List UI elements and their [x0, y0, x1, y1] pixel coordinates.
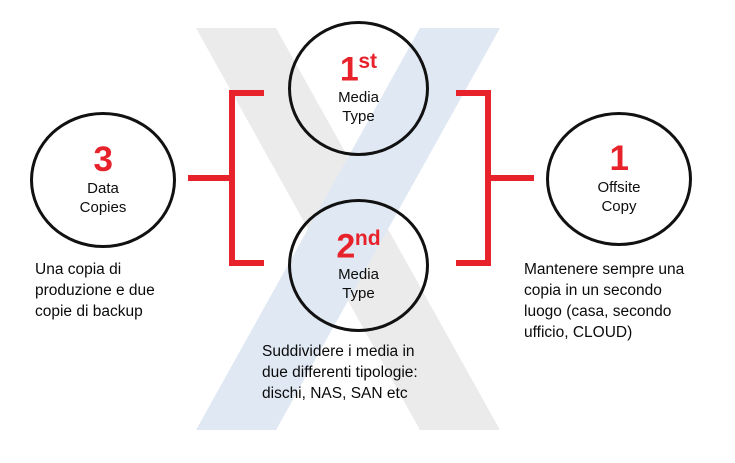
right-bracket — [456, 93, 488, 263]
node-offsite-copy[interactable]: 1 Offsite Copy — [546, 112, 692, 246]
caption-data-copies-line1: Una copia di — [35, 260, 235, 281]
caption-media-types-line3: dischi, NAS, SAN etc — [262, 384, 512, 405]
caption-media-types: Suddividere i media in due differenti ti… — [262, 342, 512, 405]
node-data-copies-label-line1: Data — [80, 179, 127, 198]
diagram-canvas: 3 Data Copies 1st Media Type 2nd Media T… — [0, 0, 735, 463]
node-second-media-type-label-line2: Type — [338, 284, 379, 303]
node-offsite-copy-label-line2: Copy — [597, 197, 640, 216]
node-second-media-type-label: Media Type — [338, 265, 379, 303]
node-data-copies-label-line2: Copies — [80, 198, 127, 217]
node-offsite-copy-label: Offsite Copy — [597, 178, 640, 216]
node-second-media-type-label-line1: Media — [338, 265, 379, 284]
caption-offsite-copy: Mantenere sempre una copia in un secondo… — [524, 260, 735, 344]
node-data-copies[interactable]: 3 Data Copies — [30, 112, 176, 248]
node-second-media-type-ordinal-suffix: nd — [355, 227, 381, 250]
node-first-media-type-label-line2: Type — [338, 107, 379, 126]
node-offsite-copy-label-line1: Offsite — [597, 178, 640, 197]
node-data-copies-number: 3 — [94, 143, 113, 176]
caption-data-copies-line3: copie di backup — [35, 302, 235, 323]
node-first-media-type[interactable]: 1st Media Type — [288, 21, 429, 156]
node-first-media-type-label-line1: Media — [338, 88, 379, 107]
node-second-media-type[interactable]: 2nd Media Type — [288, 199, 429, 332]
caption-media-types-line1: Suddividere i media in — [262, 342, 512, 363]
node-first-media-type-ordinal-suffix: st — [358, 50, 377, 73]
caption-offsite-copy-line3: luogo (casa, secondo — [524, 302, 735, 323]
caption-offsite-copy-line4: ufficio, CLOUD) — [524, 323, 735, 344]
caption-data-copies-line2: produzione e due — [35, 281, 235, 302]
node-offsite-copy-number: 1 — [610, 142, 629, 175]
caption-media-types-line2: due differenti tipologie: — [262, 363, 512, 384]
left-bracket — [232, 93, 264, 263]
node-second-media-type-number: 2nd — [336, 228, 380, 263]
node-first-media-type-digit: 1 — [340, 50, 358, 88]
node-data-copies-label: Data Copies — [80, 179, 127, 217]
caption-offsite-copy-line2: copia in un secondo — [524, 281, 735, 302]
node-first-media-type-label: Media Type — [338, 88, 379, 126]
caption-data-copies: Una copia di produzione e due copie di b… — [35, 260, 235, 323]
node-second-media-type-digit: 2 — [336, 227, 354, 265]
node-first-media-type-number: 1st — [340, 51, 377, 86]
caption-offsite-copy-line1: Mantenere sempre una — [524, 260, 735, 281]
